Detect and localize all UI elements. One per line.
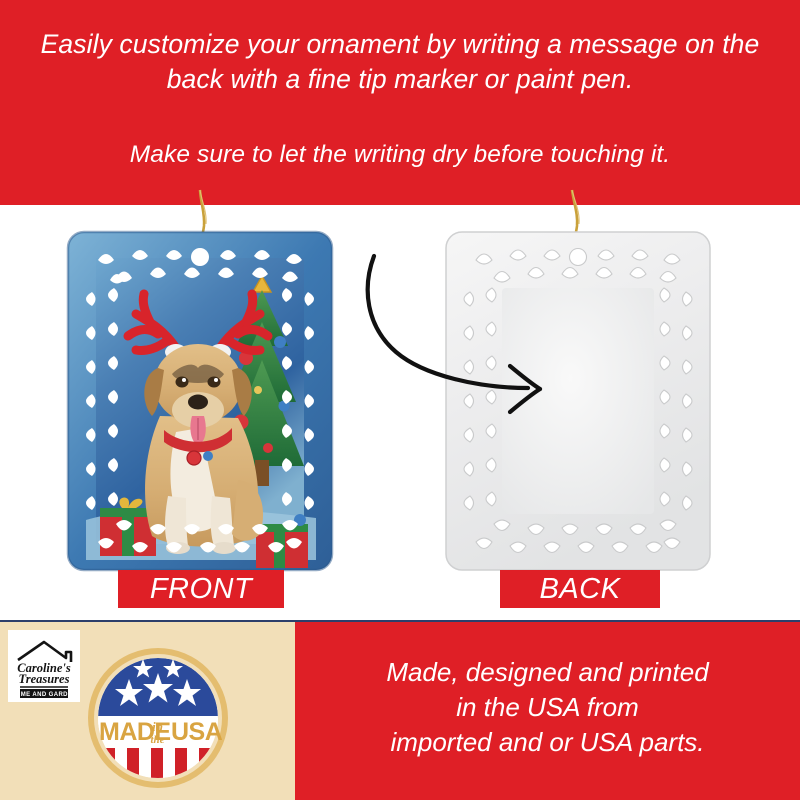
label-back: BACK <box>500 570 660 608</box>
footer-section: Caroline's Treasures HOME AND GARDEN <box>0 620 800 800</box>
usa-text-line-2: in the USA from <box>300 690 795 725</box>
header-instruction-secondary: Make sure to let the writing dry before … <box>0 139 800 171</box>
carolines-treasures-logo: Caroline's Treasures HOME AND GARDEN <box>8 630 80 702</box>
header-banner: Easily customize your ornament by writin… <box>0 0 800 205</box>
header-instruction-primary: Easily customize your ornament by writin… <box>0 27 800 97</box>
usa-text-line-3: imported and or USA parts. <box>300 725 795 760</box>
badge-word-usa: USA <box>171 718 223 746</box>
usa-text-line-1: Made, designed and printed <box>300 655 795 690</box>
badge-word-the: the <box>150 734 164 746</box>
product-infographic: Easily customize your ornament by writin… <box>0 0 800 800</box>
made-in-usa-statement: Made, designed and printed in the USA fr… <box>300 655 795 759</box>
brand-tagline: HOME AND GARDEN <box>11 692 77 698</box>
made-in-usa-badge: MADE in the USA <box>85 645 231 791</box>
badge-word-in: in <box>152 719 163 734</box>
brand-name-line2: Treasures <box>19 672 70 686</box>
label-front: FRONT <box>118 570 284 608</box>
ornament-front-image <box>66 230 334 572</box>
annotation-arrow-icon <box>350 248 580 438</box>
